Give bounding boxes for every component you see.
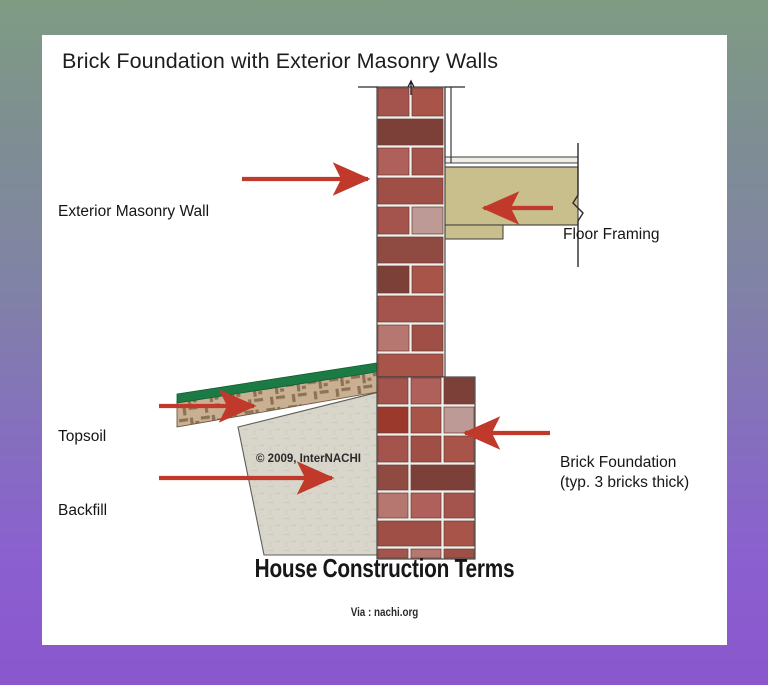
label-brick-foundation: Brick Foundation (typ. 3 bricks thick) [560, 453, 689, 493]
brick-foundation [377, 377, 475, 559]
poster-background: Brick Foundation with Exterior Masonry W… [0, 0, 768, 685]
label-floor-framing: Floor Framing [563, 225, 659, 245]
label-topsoil: Topsoil [58, 427, 106, 447]
label-backfill: Backfill [58, 501, 107, 521]
label-brick-foundation-line2: (typ. 3 bricks thick) [560, 473, 689, 493]
copyright-notice: © 2009, InterNACHI [256, 453, 361, 465]
attribution-text: Via : nachi.org [104, 605, 666, 619]
backfill-layer [238, 391, 383, 555]
diagram-caption: House Construction Terms [111, 553, 659, 584]
label-exterior-masonry-wall: Exterior Masonry Wall [58, 202, 209, 222]
page-title: Brick Foundation with Exterior Masonry W… [62, 49, 498, 74]
diagram-card: Brick Foundation with Exterior Masonry W… [42, 35, 727, 645]
label-brick-foundation-line1: Brick Foundation [560, 453, 689, 473]
